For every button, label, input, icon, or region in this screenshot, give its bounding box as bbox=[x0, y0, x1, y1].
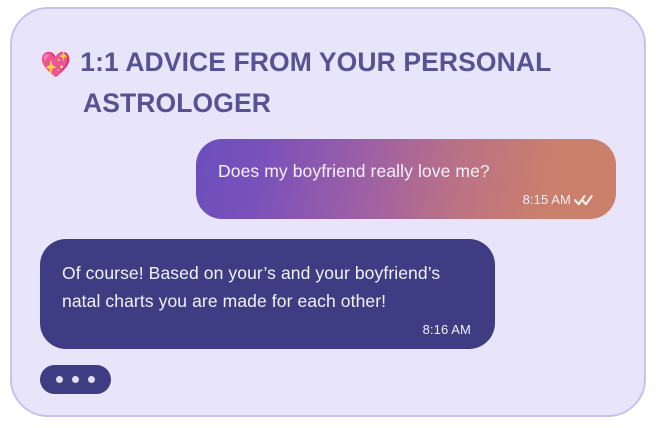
typing-indicator bbox=[40, 365, 111, 394]
page-title: 💖1:1 ADVICE FROM YOUR PERSONAL ASTROLOGE… bbox=[40, 43, 604, 122]
typing-dot-1 bbox=[56, 376, 63, 383]
message-bubble-incoming[interactable]: Of course! Based on your’s and your boyf… bbox=[40, 239, 495, 349]
chat-promo-card: 💖1:1 ADVICE FROM YOUR PERSONAL ASTROLOGE… bbox=[10, 7, 646, 417]
typing-dot-2 bbox=[72, 376, 79, 383]
message-timestamp-outgoing: 8:15 AM bbox=[523, 191, 571, 209]
message-meta-outgoing: 8:15 AM bbox=[218, 191, 594, 209]
spacer bbox=[40, 219, 616, 239]
message-timestamp-incoming: 8:16 AM bbox=[423, 321, 471, 339]
message-text-incoming-line-1: Of course! Based on your’s and your boyf… bbox=[62, 259, 471, 287]
screenshot-canvas: 💖1:1 ADVICE FROM YOUR PERSONAL ASTROLOGE… bbox=[0, 0, 660, 428]
typing-indicator-row bbox=[40, 365, 616, 394]
page-title-line-2: ASTROLOGER bbox=[40, 84, 604, 122]
sparkling-heart-icon: 💖 bbox=[40, 46, 71, 84]
spacer bbox=[40, 349, 616, 365]
message-bubble-outgoing[interactable]: Does my boyfriend really love me? 8:15 A… bbox=[196, 139, 616, 219]
page-title-line-1: 💖1:1 ADVICE FROM YOUR PERSONAL bbox=[40, 43, 604, 84]
message-meta-incoming: 8:16 AM bbox=[62, 321, 471, 339]
message-text-outgoing: Does my boyfriend really love me? bbox=[218, 157, 594, 185]
message-text-incoming-line-2: natal charts you are made for each other… bbox=[62, 287, 471, 315]
typing-dot-3 bbox=[88, 376, 95, 383]
page-title-text-1: 1:1 ADVICE FROM YOUR PERSONAL bbox=[80, 47, 551, 77]
chat-thread: Does my boyfriend really love me? 8:15 A… bbox=[40, 139, 616, 387]
message-row-incoming: Of course! Based on your’s and your boyf… bbox=[40, 239, 616, 349]
message-row-outgoing: Does my boyfriend really love me? 8:15 A… bbox=[40, 139, 616, 219]
double-check-icon bbox=[574, 193, 594, 207]
